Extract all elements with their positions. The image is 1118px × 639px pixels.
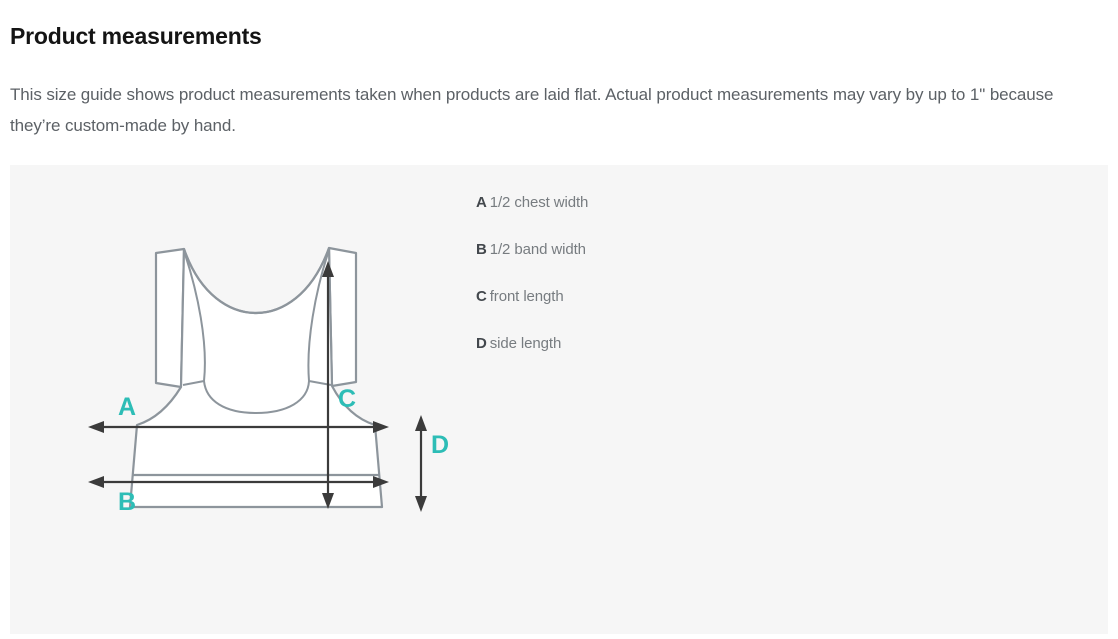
size-guide-description: This size guide shows product measuremen… [10, 79, 1104, 141]
legend-key-a: A [476, 194, 487, 211]
page-title: Product measurements [10, 21, 262, 51]
garment-outline-group [130, 248, 382, 507]
legend-label-d: side length [490, 335, 561, 352]
label-C: C [338, 385, 356, 413]
legend-label-c: front length [490, 288, 564, 305]
sports-bra-diagram: A B C [80, 235, 460, 540]
legend-key-d: D [476, 335, 487, 352]
measure-arrow-D [415, 415, 427, 512]
product-measurements-page: Product measurements This size guide sho… [0, 0, 1118, 639]
measurement-diagram-panel: A B C [10, 165, 1108, 634]
measurement-legend: A1/2 chest width B1/2 band width Cfront … [476, 193, 806, 381]
legend-label-b: 1/2 band width [490, 241, 586, 258]
legend-item-c: Cfront length [476, 287, 806, 306]
legend-key-b: B [476, 241, 487, 258]
label-D: D [431, 431, 449, 459]
label-A: A [118, 393, 136, 421]
legend-key-c: C [476, 288, 487, 305]
legend-label-a: 1/2 chest width [490, 194, 589, 211]
label-B: B [118, 488, 136, 516]
legend-item-d: Dside length [476, 334, 806, 353]
legend-item-b: B1/2 band width [476, 240, 806, 259]
legend-item-a: A1/2 chest width [476, 193, 806, 212]
